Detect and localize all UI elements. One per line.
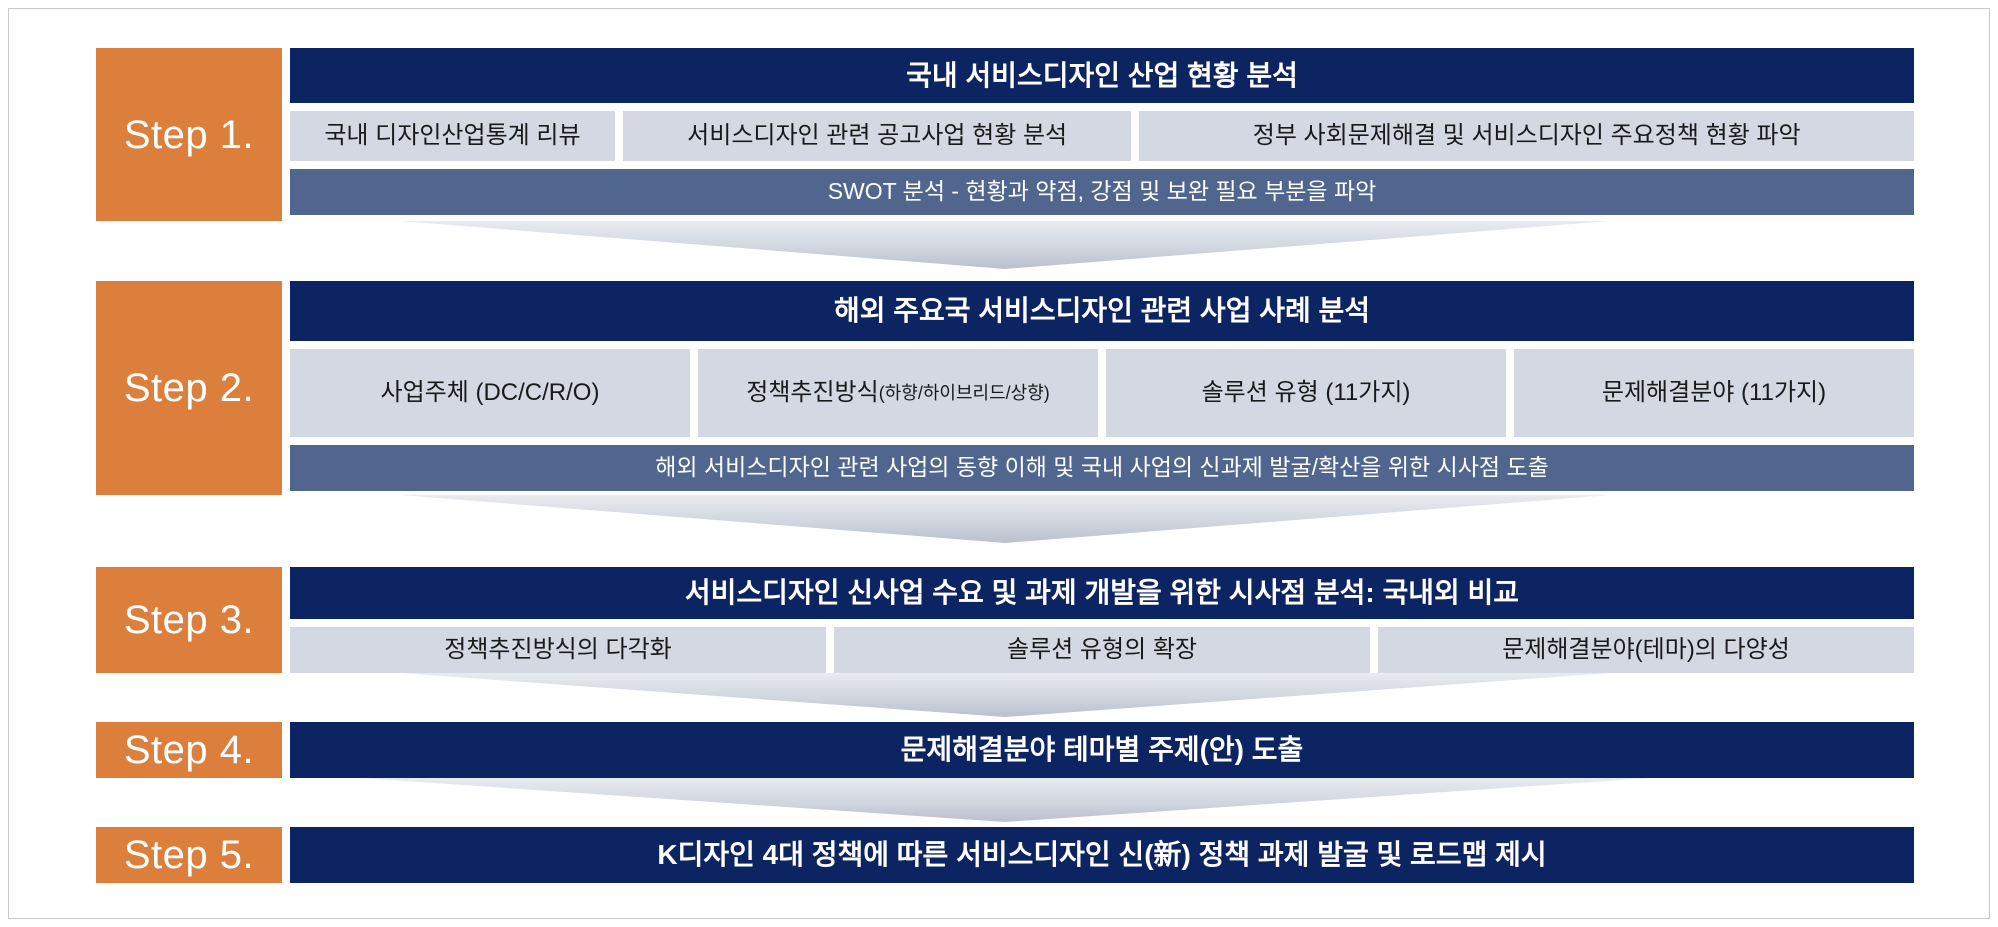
step-badge-3: Step 3. (96, 567, 282, 673)
step-body-4: 문제해결분야 테마별 주제(안) 도출 (290, 722, 1914, 778)
step-body-3: 서비스디자인 신사업 수요 및 과제 개발을 위한 시사점 분석: 국내외 비교… (290, 567, 1914, 673)
step-summary-1: SWOT 분석 - 현황과 약점, 강점 및 보완 필요 부분을 파악 (290, 169, 1914, 215)
step-block-1: Step 1. 국내 서비스디자인 산업 현황 분석 국내 디자인산업통계 리뷰… (96, 48, 1914, 221)
sub-box: 정부 사회문제해결 및 서비스디자인 주요정책 현황 파악 (1139, 111, 1914, 161)
step-badge-1: Step 1. (96, 48, 282, 221)
connector-arrow-down-icon (400, 673, 1610, 717)
step-summary-2: 해외 서비스디자인 관련 사업의 동향 이해 및 국내 사업의 신과제 발굴/확… (290, 445, 1914, 491)
step-title-1: 국내 서비스디자인 산업 현황 분석 (290, 48, 1914, 103)
connector-arrow-down-icon (360, 778, 1650, 822)
sub-box: 정책추진방식(하향/하이브리드/상향) (698, 349, 1098, 437)
step-badge-5: Step 5. (96, 827, 282, 883)
sub-box: 국내 디자인산업통계 리뷰 (290, 111, 615, 161)
sub-box-main-label: 정책추진방식 (746, 378, 878, 408)
step-body-5: K디자인 4대 정책에 따른 서비스디자인 신(新) 정책 과제 발굴 및 로드… (290, 827, 1914, 883)
step-title-5: K디자인 4대 정책에 따른 서비스디자인 신(新) 정책 과제 발굴 및 로드… (290, 827, 1914, 883)
process-flow-diagram: Step 1. 국내 서비스디자인 산업 현황 분석 국내 디자인산업통계 리뷰… (0, 0, 1998, 927)
step-sub-row-3: 정책추진방식의 다각화 솔루션 유형의 확장 문제해결분야(테마)의 다양성 (290, 627, 1914, 673)
sub-box: 문제해결분야(테마)의 다양성 (1378, 627, 1914, 673)
sub-box: 정책추진방식의 다각화 (290, 627, 826, 673)
step-block-2: Step 2. 해외 주요국 서비스디자인 관련 사업 사례 분석 사업주체 (… (96, 281, 1914, 495)
sub-box-detail-label: (하향/하이브리드/상향) (879, 382, 1050, 405)
connector-arrow-down-icon (400, 495, 1610, 543)
step-sub-row-2: 사업주체 (DC/C/R/O) 정책추진방식(하향/하이브리드/상향) 솔루션 … (290, 349, 1914, 437)
sub-box: 솔루션 유형의 확장 (834, 627, 1370, 673)
step-badge-2: Step 2. (96, 281, 282, 495)
sub-box: 문제해결분야 (11가지) (1514, 349, 1914, 437)
step-title-4: 문제해결분야 테마별 주제(안) 도출 (290, 722, 1914, 778)
step-block-3: Step 3. 서비스디자인 신사업 수요 및 과제 개발을 위한 시사점 분석… (96, 567, 1914, 673)
step-block-4: Step 4. 문제해결분야 테마별 주제(안) 도출 (96, 722, 1914, 778)
step-body-2: 해외 주요국 서비스디자인 관련 사업 사례 분석 사업주체 (DC/C/R/O… (290, 281, 1914, 495)
sub-box: 솔루션 유형 (11가지) (1106, 349, 1506, 437)
step-badge-4: Step 4. (96, 722, 282, 778)
step-body-1: 국내 서비스디자인 산업 현황 분석 국내 디자인산업통계 리뷰 서비스디자인 … (290, 48, 1914, 221)
sub-box: 서비스디자인 관련 공고사업 현황 분석 (623, 111, 1131, 161)
step-title-3: 서비스디자인 신사업 수요 및 과제 개발을 위한 시사점 분석: 국내외 비교 (290, 567, 1914, 619)
step-sub-row-1: 국내 디자인산업통계 리뷰 서비스디자인 관련 공고사업 현황 분석 정부 사회… (290, 111, 1914, 161)
connector-arrow-down-icon (400, 221, 1610, 269)
step-title-2: 해외 주요국 서비스디자인 관련 사업 사례 분석 (290, 281, 1914, 341)
sub-box: 사업주체 (DC/C/R/O) (290, 349, 690, 437)
step-block-5: Step 5. K디자인 4대 정책에 따른 서비스디자인 신(新) 정책 과제… (96, 827, 1914, 883)
